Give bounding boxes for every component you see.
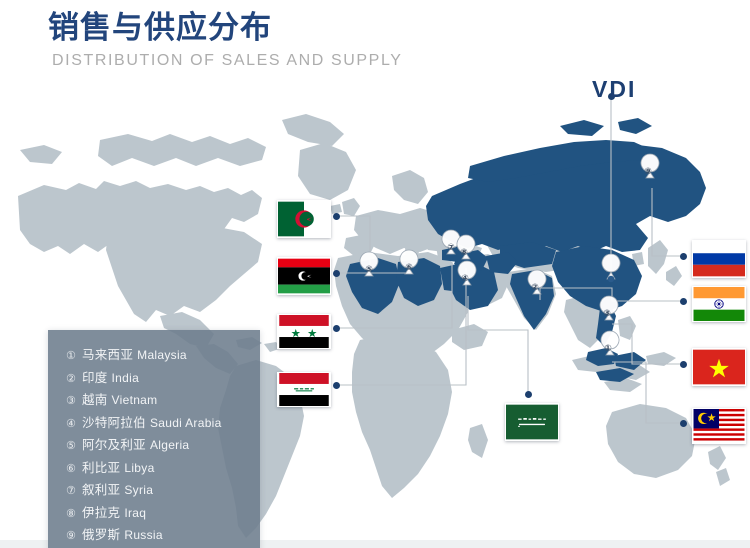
legend-item-number: ④ [66, 418, 76, 430]
legend-item-label-en: Iraq [124, 506, 146, 520]
legend-item-iraq[interactable]: ⑧ 伊拉克Iraq [48, 502, 260, 525]
legend-item-number: ③ [66, 395, 76, 407]
map-pin-saudi-number: ④ [456, 270, 474, 287]
flag-vietnam[interactable] [692, 348, 746, 386]
page-header: 销售与供应分布 DISTRIBUTION OF SALES AND SUPPLY [48, 8, 403, 72]
map-pin-india-number: ② [526, 279, 544, 296]
legend-item-label-cn: 阿尔及利亚 [78, 438, 146, 452]
node-india[interactable] [680, 298, 687, 305]
legend-item-label-en: India [112, 371, 140, 385]
node-russia[interactable] [680, 253, 687, 260]
china-hq-pin-dot [608, 276, 614, 282]
legend-item-label-cn: 印度 [78, 371, 107, 385]
flag-syria[interactable] [277, 314, 331, 349]
legend-item-number: ② [66, 373, 76, 385]
legend-item-number: ⑨ [66, 530, 76, 542]
map-pin-vietnam[interactable]: ③ [598, 304, 616, 328]
legend-item-label-cn: 越南 [78, 393, 107, 407]
map-pin-india[interactable]: ② [526, 278, 544, 302]
legend-item-label-en: Libya [124, 461, 154, 475]
flag-algeria[interactable] [277, 200, 331, 238]
legend-item-number: ① [66, 350, 76, 362]
legend-item-number: ⑧ [66, 508, 76, 520]
brand-label: VDI [592, 76, 636, 103]
flag-iraq[interactable] [277, 372, 331, 407]
legend-item-number: ⑦ [66, 485, 76, 497]
legend-item-label-en: Malaysia [137, 348, 187, 362]
country-legend: ① 马来西亚Malaysia② 印度India③ 越南Vietnam④ 沙特阿拉… [48, 330, 260, 548]
map-pin-libya-number: ⑥ [400, 259, 418, 276]
flag-russia[interactable] [692, 240, 746, 278]
flag-saudi-arabia[interactable] [505, 403, 559, 441]
legend-item-label-cn: 叙利亚 [78, 483, 120, 497]
legend-item-saudi-arabia[interactable]: ④ 沙特阿拉伯Saudi Arabia [48, 412, 260, 435]
page-title: 销售与供应分布 [48, 8, 403, 48]
country-china [552, 246, 642, 312]
legend-item-label-en: Russia [124, 528, 162, 542]
legend-item-number: ⑤ [66, 440, 76, 452]
node-syria[interactable] [333, 325, 340, 332]
node-libya[interactable] [333, 270, 340, 277]
map-pin-algeria-number: ⑤ [360, 261, 378, 278]
legend-item-vietnam[interactable]: ③ 越南Vietnam [48, 389, 260, 412]
slide-canvas: 销售与供应分布 DISTRIBUTION OF SALES AND SUPPLY… [0, 0, 750, 548]
legend-item-algeria[interactable]: ⑤ 阿尔及利亚Algeria [48, 434, 260, 457]
map-pin-algeria[interactable]: ⑤ [360, 260, 378, 284]
map-pin-vietnam-number: ③ [598, 305, 616, 322]
map-pin-iraq-number: ⑧ [455, 244, 473, 261]
map-pin-russia[interactable]: ⑨ [639, 162, 657, 186]
legend-item-syria[interactable]: ⑦ 叙利亚Syria [48, 479, 260, 502]
map-pin-iraq[interactable]: ⑧ [455, 243, 473, 267]
country-legend-list: ① 马来西亚Malaysia② 印度India③ 越南Vietnam④ 沙特阿拉… [48, 344, 260, 547]
map-pin-saudi[interactable]: ④ [456, 269, 474, 293]
legend-item-label-cn: 伊拉克 [78, 506, 120, 520]
legend-item-russia[interactable]: ⑨ 俄罗斯Russia [48, 524, 260, 547]
node-malaysia[interactable] [680, 420, 687, 427]
node-algeria[interactable] [333, 213, 340, 220]
legend-item-number: ⑥ [66, 463, 76, 475]
legend-item-label-cn: 马来西亚 [78, 348, 133, 362]
legend-item-label-cn: 俄罗斯 [78, 528, 120, 542]
flag-india[interactable] [692, 286, 746, 322]
node-iraq[interactable] [333, 382, 340, 389]
map-pin-malaysia-number: ① [599, 340, 617, 357]
legend-item-label-en: Saudi Arabia [150, 416, 222, 430]
map-pin-russia-number: ⑨ [639, 163, 657, 180]
node-vietnam[interactable] [680, 361, 687, 368]
flag-libya[interactable] [277, 257, 331, 295]
legend-item-label-en: Vietnam [112, 393, 158, 407]
legend-item-label-cn: 利比亚 [78, 461, 120, 475]
legend-item-libya[interactable]: ⑥ 利比亚Libya [48, 457, 260, 480]
map-pin-libya[interactable]: ⑥ [400, 258, 418, 282]
legend-item-india[interactable]: ② 印度India [48, 367, 260, 390]
page-subtitle: DISTRIBUTION OF SALES AND SUPPLY [52, 50, 403, 72]
legend-item-label-en: Algeria [150, 438, 189, 452]
legend-item-label-en: Syria [124, 483, 153, 497]
map-pin-malaysia[interactable]: ① [599, 339, 617, 363]
legend-item-label-cn: 沙特阿拉伯 [78, 416, 146, 430]
flag-malaysia[interactable] [692, 408, 746, 444]
legend-item-malaysia[interactable]: ① 马来西亚Malaysia [48, 344, 260, 367]
node-saudi[interactable] [525, 391, 532, 398]
